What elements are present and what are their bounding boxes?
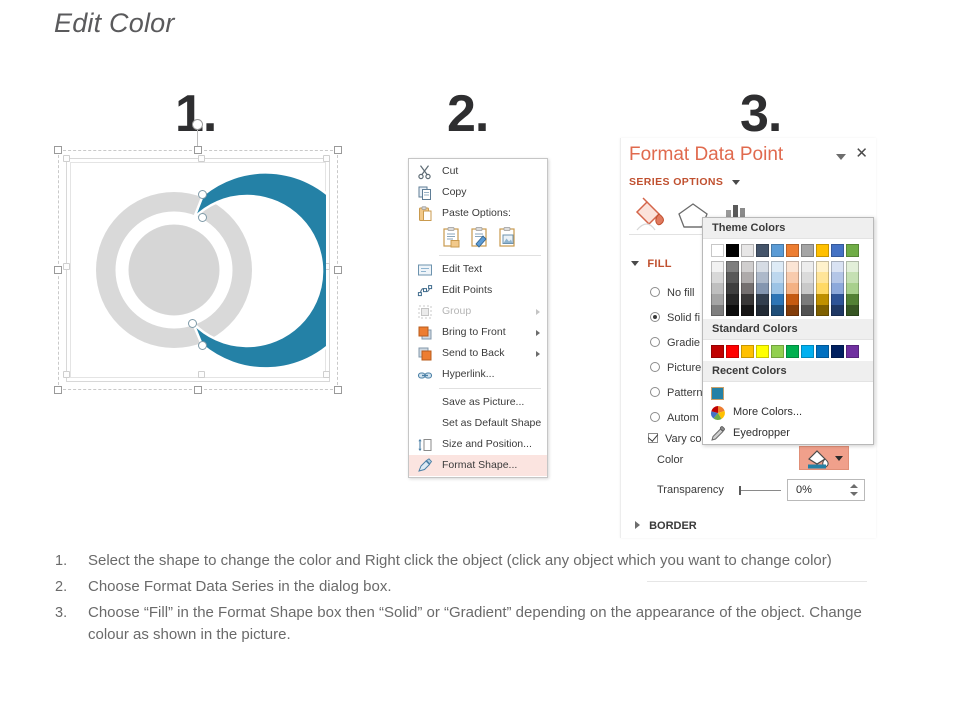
send-back-icon bbox=[417, 346, 433, 362]
fill-option-solid-fill[interactable]: Solid fi bbox=[650, 311, 700, 326]
theme-tint-swatch-2-3[interactable] bbox=[756, 283, 769, 294]
series-options-label: SERIES OPTIONS bbox=[629, 176, 723, 188]
resize-handle-e[interactable] bbox=[334, 266, 342, 274]
menu-item-label: Hyperlink... bbox=[442, 368, 495, 380]
theme-tint-swatch-4-0[interactable] bbox=[711, 305, 724, 316]
menu-item-label: Paste Options: bbox=[442, 207, 511, 219]
slide-canvas: Edit Color 1. 2. 3. bbox=[0, 0, 960, 720]
eyedropper-icon bbox=[710, 426, 726, 442]
theme-tint-swatch-0-6[interactable] bbox=[801, 261, 814, 272]
instruction-row: 2. Choose Format Data Series in the dial… bbox=[55, 576, 895, 598]
submenu-arrow-icon bbox=[536, 351, 540, 357]
arc-handle-top-outer[interactable] bbox=[198, 190, 207, 199]
theme-tint-swatch-0-9[interactable] bbox=[846, 261, 859, 272]
page-title: Edit Color bbox=[54, 8, 175, 39]
theme-tint-swatch-1-2[interactable] bbox=[741, 272, 754, 283]
fill-bucket-icon bbox=[637, 198, 663, 225]
recent-color-swatch-0[interactable] bbox=[711, 387, 724, 400]
theme-tint-swatch-2-7[interactable] bbox=[816, 283, 829, 294]
color-picker-popup[interactable]: Theme Colors Standard Colors Recent Colo… bbox=[702, 217, 874, 445]
menu-item-edit-text[interactable]: Edit Text bbox=[409, 259, 547, 280]
recent-colors-header: Recent Colors bbox=[703, 361, 873, 382]
hyperlink-icon bbox=[417, 367, 433, 383]
theme-tint-swatch-1-0[interactable] bbox=[711, 272, 724, 283]
menu-item-label: Group bbox=[442, 305, 471, 317]
theme-tint-swatch-4-8[interactable] bbox=[831, 305, 844, 316]
resize-handle-nw[interactable] bbox=[54, 146, 62, 154]
theme-tint-row-3[interactable] bbox=[711, 294, 873, 305]
theme-tint-swatch-1-6[interactable] bbox=[801, 272, 814, 283]
theme-tint-row-2[interactable] bbox=[711, 283, 873, 294]
color-picker-button[interactable] bbox=[799, 446, 849, 470]
inner-handle-nw[interactable] bbox=[63, 155, 70, 162]
submenu-arrow-icon bbox=[536, 309, 540, 315]
fill-option-pattern-fill[interactable]: Pattern bbox=[650, 386, 702, 401]
menu-item-bring-to-front[interactable]: Bring to Front bbox=[409, 322, 547, 343]
theme-tint-swatch-1-4[interactable] bbox=[771, 272, 784, 283]
resize-handle-sw[interactable] bbox=[54, 386, 62, 394]
standard-color-swatch-9[interactable] bbox=[846, 345, 859, 358]
theme-tint-swatch-2-2[interactable] bbox=[741, 283, 754, 294]
menu-item-save-as-picture[interactable]: Save as Picture... bbox=[409, 392, 547, 413]
vary-colors-checkbox[interactable]: Vary co bbox=[648, 432, 701, 447]
edit-points-icon bbox=[417, 283, 433, 299]
step-number-1: 1. bbox=[175, 88, 216, 140]
arc-handle-bottom-inner[interactable] bbox=[188, 319, 197, 328]
theme-tint-swatch-4-1[interactable] bbox=[726, 305, 739, 316]
instruction-text: Choose “Fill” in the Format Shape box th… bbox=[88, 602, 895, 646]
spinner-up-icon[interactable] bbox=[850, 484, 858, 488]
menu-item-label: Save as Picture... bbox=[442, 396, 524, 408]
eyedropper-item[interactable]: Eyedropper bbox=[703, 423, 873, 444]
menu-item-copy[interactable]: Copy bbox=[409, 182, 547, 203]
theme-tint-swatch-4-9[interactable] bbox=[846, 305, 859, 316]
instruction-number: 1. bbox=[55, 550, 88, 572]
theme-tint-swatch-0-7[interactable] bbox=[816, 261, 829, 272]
paste-options-row[interactable] bbox=[409, 224, 547, 252]
theme-color-swatch-2[interactable] bbox=[741, 244, 754, 257]
context-menu[interactable]: Cut Copy Paste Options: bbox=[408, 158, 548, 478]
theme-colors-header: Theme Colors bbox=[703, 218, 873, 239]
theme-tint-row-4[interactable] bbox=[711, 305, 873, 316]
menu-item-set-default-shape[interactable]: Set as Default Shape bbox=[409, 413, 547, 434]
transparency-slider[interactable] bbox=[741, 490, 781, 491]
chart-options-icon bbox=[726, 205, 745, 217]
arc-handle-bottom-outer[interactable] bbox=[198, 341, 207, 350]
menu-item-format-shape[interactable]: Format Shape... bbox=[409, 455, 547, 476]
theme-tint-swatch-3-6[interactable] bbox=[801, 294, 814, 305]
expand-triangle-icon bbox=[631, 261, 639, 266]
theme-tint-swatch-4-6[interactable] bbox=[801, 305, 814, 316]
theme-colors-grid[interactable] bbox=[703, 239, 873, 319]
rotation-handle[interactable] bbox=[192, 119, 203, 130]
border-section-header[interactable]: BORDER bbox=[635, 520, 697, 532]
theme-tint-swatch-0-0[interactable] bbox=[711, 261, 724, 272]
theme-color-swatch-1[interactable] bbox=[726, 244, 739, 257]
theme-color-swatch-3[interactable] bbox=[756, 244, 769, 257]
instruction-row: 3. Choose “Fill” in the Format Shape box… bbox=[55, 602, 895, 646]
radio-icon-selected[interactable] bbox=[650, 312, 660, 322]
standard-color-swatch-2[interactable] bbox=[741, 345, 754, 358]
menu-item-size-and-position[interactable]: Size and Position... bbox=[409, 434, 547, 455]
fill-option-label: Gradie bbox=[667, 337, 700, 349]
theme-tint-swatch-1-5[interactable] bbox=[786, 272, 799, 283]
step-number-3: 3. bbox=[740, 88, 781, 140]
theme-tint-row-0[interactable] bbox=[711, 261, 873, 272]
pane-dropdown-icon[interactable] bbox=[836, 154, 846, 160]
standard-color-swatch-4[interactable] bbox=[771, 345, 784, 358]
menu-separator bbox=[439, 255, 541, 256]
menu-item-label: Format Shape... bbox=[442, 459, 517, 471]
paste-picture-icon[interactable] bbox=[498, 227, 519, 249]
theme-tint-swatch-4-5[interactable] bbox=[786, 305, 799, 316]
theme-tint-swatch-4-3[interactable] bbox=[756, 305, 769, 316]
fill-option-label: Pattern bbox=[667, 387, 702, 399]
theme-color-swatch-6[interactable] bbox=[801, 244, 814, 257]
clipboard-icon bbox=[417, 206, 433, 222]
theme-tint-swatch-3-0[interactable] bbox=[711, 294, 724, 305]
fill-option-label: Autom bbox=[667, 412, 699, 424]
standard-color-swatch-7[interactable] bbox=[816, 345, 829, 358]
theme-tints-rows[interactable] bbox=[711, 261, 873, 316]
menu-item-paste-options[interactable]: Paste Options: bbox=[409, 203, 547, 224]
menu-item-label: Set as Default Shape bbox=[442, 417, 541, 429]
theme-tint-swatch-1-9[interactable] bbox=[846, 272, 859, 283]
resize-handle-ne[interactable] bbox=[334, 146, 342, 154]
menu-item-label: Size and Position... bbox=[442, 438, 532, 450]
instruction-text: Select the shape to change the color and… bbox=[88, 550, 832, 572]
step-number-2: 2. bbox=[447, 88, 488, 140]
standard-colors-row[interactable] bbox=[711, 345, 873, 358]
standard-colors-grid[interactable] bbox=[703, 340, 873, 361]
theme-tint-swatch-2-8[interactable] bbox=[831, 283, 844, 294]
theme-tint-swatch-3-4[interactable] bbox=[771, 294, 784, 305]
resize-handle-se[interactable] bbox=[334, 386, 342, 394]
theme-tint-swatch-0-3[interactable] bbox=[756, 261, 769, 272]
theme-tint-swatch-2-6[interactable] bbox=[801, 283, 814, 294]
menu-item-label: Send to Back bbox=[442, 347, 504, 359]
theme-tint-swatch-4-2[interactable] bbox=[741, 305, 754, 316]
theme-tint-swatch-0-2[interactable] bbox=[741, 261, 754, 272]
transparency-value: 0% bbox=[796, 484, 812, 496]
radio-icon[interactable] bbox=[650, 412, 660, 422]
fill-option-label: Picture bbox=[667, 362, 701, 374]
series-options-dropdown[interactable]: SERIES OPTIONS bbox=[629, 176, 740, 188]
checkbox-icon-checked[interactable] bbox=[648, 433, 658, 443]
theme-tint-swatch-4-4[interactable] bbox=[771, 305, 784, 316]
theme-tint-swatch-4-7[interactable] bbox=[816, 305, 829, 316]
standard-color-swatch-5[interactable] bbox=[786, 345, 799, 358]
theme-tint-swatch-1-1[interactable] bbox=[726, 272, 739, 283]
fill-option-automatic[interactable]: Autom bbox=[650, 411, 699, 426]
theme-colors-row[interactable] bbox=[711, 244, 873, 257]
menu-item-label: Bring to Front bbox=[442, 326, 506, 338]
border-section-label: BORDER bbox=[649, 520, 697, 532]
theme-tint-swatch-2-1[interactable] bbox=[726, 283, 739, 294]
panel-selected-shape bbox=[58, 150, 338, 390]
theme-tint-swatch-3-9[interactable] bbox=[846, 294, 859, 305]
scissors-icon bbox=[417, 164, 433, 180]
radio-icon[interactable] bbox=[650, 387, 660, 397]
instruction-text: Choose Format Data Series in the dialog … bbox=[88, 576, 392, 598]
standard-color-swatch-1[interactable] bbox=[726, 345, 739, 358]
menu-item-label: Edit Text bbox=[442, 263, 482, 275]
close-icon[interactable]: ✕ bbox=[855, 146, 868, 161]
eyedropper-label: Eyedropper bbox=[733, 427, 790, 439]
group-icon bbox=[417, 304, 433, 320]
donut-gray-core bbox=[129, 225, 219, 315]
theme-tint-swatch-3-3[interactable] bbox=[756, 294, 769, 305]
fill-option-gradient-fill[interactable]: Gradie bbox=[650, 336, 700, 351]
color-wheel-icon bbox=[710, 405, 726, 421]
theme-tint-swatch-2-9[interactable] bbox=[846, 283, 859, 294]
fill-option-label: Solid fi bbox=[667, 312, 700, 324]
menu-item-edit-points[interactable]: Edit Points bbox=[409, 280, 547, 301]
paste-keep-source-icon[interactable] bbox=[442, 227, 463, 249]
theme-tint-swatch-0-5[interactable] bbox=[786, 261, 799, 272]
theme-color-swatch-5[interactable] bbox=[786, 244, 799, 257]
vary-colors-label: Vary co bbox=[665, 433, 701, 445]
recent-colors-grid[interactable] bbox=[703, 382, 873, 402]
radio-icon[interactable] bbox=[650, 287, 660, 297]
standard-color-swatch-0[interactable] bbox=[711, 345, 724, 358]
theme-tint-swatch-0-8[interactable] bbox=[831, 261, 844, 272]
instruction-number: 2. bbox=[55, 576, 88, 598]
transparency-input[interactable]: 0% bbox=[787, 479, 865, 501]
theme-tint-swatch-1-7[interactable] bbox=[816, 272, 829, 283]
theme-color-swatch-4[interactable] bbox=[771, 244, 784, 257]
paste-destination-theme-icon[interactable] bbox=[470, 227, 491, 249]
theme-tint-swatch-3-2[interactable] bbox=[741, 294, 754, 305]
theme-tint-swatch-3-1[interactable] bbox=[726, 294, 739, 305]
instruction-number: 3. bbox=[55, 602, 88, 646]
theme-tint-swatch-3-5[interactable] bbox=[786, 294, 799, 305]
theme-color-swatch-8[interactable] bbox=[831, 244, 844, 257]
menu-item-send-to-back[interactable]: Send to Back bbox=[409, 343, 547, 364]
format-shape-icon bbox=[417, 458, 433, 474]
inner-handle-sw[interactable] bbox=[63, 371, 70, 378]
size-position-icon bbox=[417, 437, 433, 453]
fill-option-label: No fill bbox=[667, 287, 695, 299]
menu-item-label: Copy bbox=[442, 186, 467, 198]
theme-tint-swatch-3-7[interactable] bbox=[816, 294, 829, 305]
more-colors-item[interactable]: More Colors... bbox=[703, 402, 873, 423]
theme-tint-swatch-3-8[interactable] bbox=[831, 294, 844, 305]
standard-color-swatch-6[interactable] bbox=[801, 345, 814, 358]
resize-handle-w[interactable] bbox=[54, 266, 62, 274]
theme-tint-swatch-0-4[interactable] bbox=[771, 261, 784, 272]
inner-handle-w[interactable] bbox=[63, 263, 70, 270]
theme-color-swatch-9[interactable] bbox=[846, 244, 859, 257]
edit-text-icon bbox=[417, 262, 433, 278]
fill-option-picture-fill[interactable]: Picture bbox=[650, 361, 701, 376]
theme-color-swatch-7[interactable] bbox=[816, 244, 829, 257]
radio-icon[interactable] bbox=[650, 362, 660, 372]
theme-tint-swatch-1-8[interactable] bbox=[831, 272, 844, 283]
spinner-down-icon[interactable] bbox=[850, 492, 858, 496]
instructions-list: 1. Select the shape to change the color … bbox=[55, 550, 895, 650]
theme-tint-swatch-0-1[interactable] bbox=[726, 261, 739, 272]
transparency-label: Transparency bbox=[657, 484, 724, 496]
instruction-row: 1. Select the shape to change the color … bbox=[55, 550, 895, 572]
icon-row-curve bbox=[637, 224, 655, 230]
fill-section-label: FILL bbox=[647, 258, 671, 270]
standard-color-swatch-3[interactable] bbox=[756, 345, 769, 358]
radio-icon[interactable] bbox=[650, 337, 660, 347]
menu-item-hyperlink[interactable]: Hyperlink... bbox=[409, 364, 547, 385]
menu-item-group[interactable]: Group bbox=[409, 301, 547, 322]
menu-item-cut[interactable]: Cut bbox=[409, 161, 547, 182]
fill-section-header[interactable]: FILL bbox=[631, 258, 672, 270]
menu-separator bbox=[439, 388, 541, 389]
pane-title: Format Data Point bbox=[629, 144, 783, 166]
chevron-down-icon[interactable] bbox=[835, 456, 843, 461]
arc-handle-top-inner[interactable] bbox=[198, 213, 207, 222]
chevron-down-icon bbox=[732, 180, 740, 185]
theme-tint-swatch-2-0[interactable] bbox=[711, 283, 724, 294]
color-label: Color bbox=[657, 454, 683, 466]
recent-colors-row[interactable] bbox=[711, 387, 873, 400]
theme-tint-swatch-1-3[interactable] bbox=[756, 272, 769, 283]
theme-tint-swatch-2-5[interactable] bbox=[786, 283, 799, 294]
resize-handle-s[interactable] bbox=[194, 386, 202, 394]
more-colors-label: More Colors... bbox=[733, 406, 802, 418]
theme-tint-row-1[interactable] bbox=[711, 272, 873, 283]
fill-option-no-fill[interactable]: No fill bbox=[650, 286, 695, 301]
menu-item-label: Cut bbox=[442, 165, 458, 177]
collapse-triangle-icon bbox=[635, 521, 640, 529]
copy-icon bbox=[417, 185, 433, 201]
bring-front-icon bbox=[417, 325, 433, 341]
theme-tint-swatch-2-4[interactable] bbox=[771, 283, 784, 294]
menu-item-label: Edit Points bbox=[442, 284, 492, 296]
theme-color-swatch-0[interactable] bbox=[711, 244, 724, 257]
donut-chart[interactable] bbox=[76, 158, 326, 380]
standard-color-swatch-8[interactable] bbox=[831, 345, 844, 358]
standard-colors-header: Standard Colors bbox=[703, 319, 873, 340]
submenu-arrow-icon bbox=[536, 330, 540, 336]
resize-handle-n[interactable] bbox=[194, 146, 202, 154]
